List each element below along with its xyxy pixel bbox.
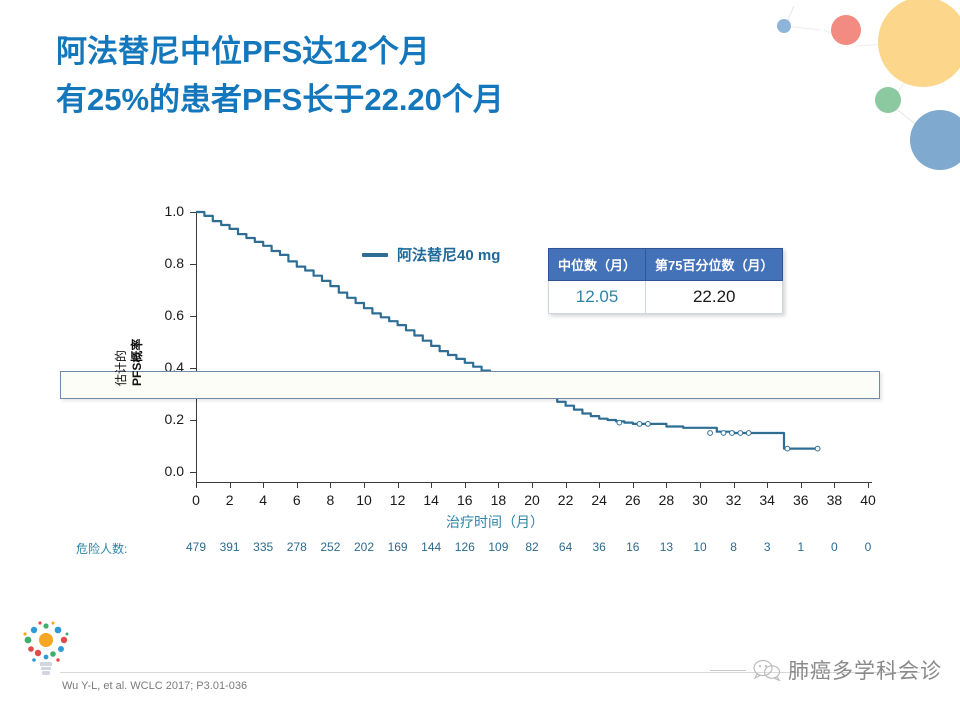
x-tick-mark bbox=[364, 482, 365, 488]
y-tick-mark bbox=[190, 368, 196, 369]
wechat-icon bbox=[752, 659, 782, 681]
table-row: 12.05 22.20 bbox=[549, 281, 783, 314]
x-tick-label: 14 bbox=[419, 492, 443, 508]
x-tick-label: 20 bbox=[520, 492, 544, 508]
brand-watermark: 肺癌多学科会诊 bbox=[710, 655, 942, 685]
at-risk-label: 危险人数: bbox=[76, 540, 127, 557]
citation-text: Wu Y-L, et al. WCLC 2017; P3.01-036 bbox=[62, 680, 247, 692]
at-risk-value: 169 bbox=[385, 540, 411, 554]
x-tick-mark bbox=[263, 482, 264, 488]
at-risk-value: 0 bbox=[855, 540, 881, 554]
x-tick-mark bbox=[801, 482, 802, 488]
x-tick-label: 30 bbox=[688, 492, 712, 508]
table-cell-median-value: 12.05 bbox=[549, 281, 646, 314]
x-tick-label: 28 bbox=[654, 492, 678, 508]
y-tick-label: 0.8 bbox=[150, 255, 184, 271]
x-tick-mark bbox=[734, 482, 735, 488]
x-tick-label: 8 bbox=[318, 492, 342, 508]
table-header-median: 中位数（月） bbox=[549, 249, 646, 281]
x-tick-mark bbox=[532, 482, 533, 488]
table-header-row: 中位数（月） 第75百分位数（月） bbox=[549, 249, 783, 281]
x-tick-mark bbox=[230, 482, 231, 488]
x-tick-mark bbox=[196, 482, 197, 488]
chart-legend: 阿法替尼40 mg bbox=[362, 244, 500, 265]
x-tick-label: 22 bbox=[554, 492, 578, 508]
y-axis-label: 估计的 PFS概率 bbox=[96, 300, 140, 390]
at-risk-value: 109 bbox=[485, 540, 511, 554]
at-risk-value: 0 bbox=[821, 540, 847, 554]
x-tick-label: 18 bbox=[486, 492, 510, 508]
x-tick-label: 6 bbox=[285, 492, 309, 508]
x-tick-mark bbox=[398, 482, 399, 488]
at-risk-value: 64 bbox=[553, 540, 579, 554]
x-tick-mark bbox=[498, 482, 499, 488]
y-tick-label: 1.0 bbox=[150, 203, 184, 219]
x-axis-label: 治疗时间（月） bbox=[0, 512, 960, 532]
at-risk-value: 479 bbox=[183, 540, 209, 554]
x-tick-mark bbox=[700, 482, 701, 488]
x-tick-mark bbox=[297, 482, 298, 488]
x-tick-label: 10 bbox=[352, 492, 376, 508]
x-tick-mark bbox=[566, 482, 567, 488]
y-tick-label: 0.2 bbox=[150, 411, 184, 427]
x-tick-mark bbox=[465, 482, 466, 488]
at-risk-value: 335 bbox=[250, 540, 276, 554]
at-risk-value: 3 bbox=[754, 540, 780, 554]
at-risk-value: 36 bbox=[586, 540, 612, 554]
at-risk-value: 16 bbox=[620, 540, 646, 554]
x-tick-mark bbox=[330, 482, 331, 488]
x-tick-label: 38 bbox=[822, 492, 846, 508]
brand-divider bbox=[710, 670, 746, 671]
x-tick-label: 16 bbox=[453, 492, 477, 508]
title-line-2: 有25%的患者PFS长于22.20个月 bbox=[56, 76, 756, 124]
slide-title: 阿法替尼中位PFS达12个月 有25%的患者PFS长于22.20个月 bbox=[56, 28, 756, 124]
legend-label: 阿法替尼40 mg bbox=[397, 244, 500, 265]
legend-swatch bbox=[362, 253, 388, 257]
x-tick-label: 32 bbox=[722, 492, 746, 508]
lightbulb-logo bbox=[18, 618, 74, 680]
x-tick-label: 12 bbox=[386, 492, 410, 508]
brand-name: 肺癌多学科会诊 bbox=[788, 655, 942, 685]
y-axis-line bbox=[196, 212, 197, 482]
x-tick-mark bbox=[868, 482, 869, 488]
y-tick-mark bbox=[190, 420, 196, 421]
x-tick-mark bbox=[633, 482, 634, 488]
at-risk-value: 391 bbox=[217, 540, 243, 554]
y-tick-mark bbox=[190, 316, 196, 317]
x-tick-label: 0 bbox=[184, 492, 208, 508]
percentile-highlight-band bbox=[60, 371, 880, 399]
at-risk-value: 1 bbox=[788, 540, 814, 554]
at-risk-value: 82 bbox=[519, 540, 545, 554]
x-tick-label: 36 bbox=[789, 492, 813, 508]
at-risk-value: 8 bbox=[721, 540, 747, 554]
at-risk-row: 危险人数: 4793913352782522021691441261098264… bbox=[0, 540, 960, 562]
at-risk-value: 202 bbox=[351, 540, 377, 554]
title-line-1: 阿法替尼中位PFS达12个月 bbox=[56, 28, 756, 76]
x-tick-label: 24 bbox=[587, 492, 611, 508]
y-axis-label-line-1: 估计的 bbox=[112, 350, 129, 386]
table-header-p75: 第75百分位数（月） bbox=[646, 249, 783, 281]
x-tick-label: 40 bbox=[856, 492, 880, 508]
at-risk-value: 278 bbox=[284, 540, 310, 554]
y-axis-label-line-2: PFS概率 bbox=[128, 339, 145, 386]
y-tick-mark bbox=[190, 472, 196, 473]
y-tick-mark bbox=[190, 212, 196, 213]
x-tick-label: 2 bbox=[218, 492, 242, 508]
x-tick-mark bbox=[767, 482, 768, 488]
at-risk-value: 126 bbox=[452, 540, 478, 554]
at-risk-value: 252 bbox=[317, 540, 343, 554]
y-tick-label: 0.0 bbox=[150, 463, 184, 479]
x-tick-mark bbox=[599, 482, 600, 488]
y-tick-mark bbox=[190, 264, 196, 265]
y-tick-label: 0.6 bbox=[150, 307, 184, 323]
x-tick-mark bbox=[834, 482, 835, 488]
at-risk-value: 13 bbox=[653, 540, 679, 554]
statistics-table: 中位数（月） 第75百分位数（月） 12.05 22.20 bbox=[548, 248, 783, 314]
decorative-molecule-graphic bbox=[760, 0, 960, 170]
x-tick-mark bbox=[431, 482, 432, 488]
at-risk-value: 10 bbox=[687, 540, 713, 554]
x-tick-label: 26 bbox=[621, 492, 645, 508]
at-risk-value: 144 bbox=[418, 540, 444, 554]
x-tick-label: 34 bbox=[755, 492, 779, 508]
x-tick-label: 4 bbox=[251, 492, 275, 508]
x-tick-mark bbox=[666, 482, 667, 488]
table-cell-p75-value: 22.20 bbox=[646, 281, 783, 314]
